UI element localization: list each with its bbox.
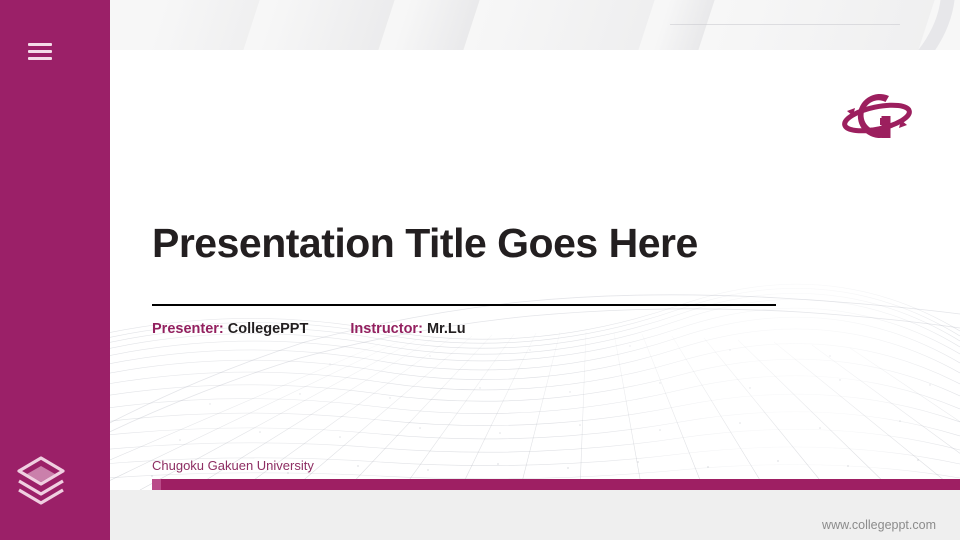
top-decorative-band <box>110 0 960 50</box>
slide-accent-bar-cap <box>152 479 161 490</box>
instructor-value: Mr.Lu <box>427 321 466 337</box>
ribbon-curve-shape <box>565 0 960 50</box>
byline: Presenter: CollegePPT Instructor: Mr.Lu <box>152 321 466 337</box>
site-url[interactable]: www.collegeppt.com <box>822 518 936 532</box>
instructor-label: Instructor: <box>350 321 423 337</box>
left-sidebar <box>0 0 110 540</box>
presenter-value: CollegePPT <box>228 321 309 337</box>
ribbon-shape <box>122 0 272 50</box>
presentation-viewer: Presentation Title Goes Here Presenter: … <box>0 0 960 540</box>
hamburger-bar <box>28 43 52 46</box>
ribbon-shape <box>232 0 407 50</box>
orbit-g-logo-icon <box>835 78 919 154</box>
presenter-label: Presenter: <box>152 321 224 337</box>
hamburger-bar <box>28 57 52 60</box>
hamburger-menu-icon[interactable] <box>28 43 52 63</box>
page-title: Presentation Title Goes Here <box>152 222 892 265</box>
university-name: Chugoku Gakuen University <box>152 458 314 473</box>
layers-stack-icon[interactable] <box>13 452 69 508</box>
slide-accent-bar <box>152 479 960 490</box>
ribbon-hairline <box>670 24 900 25</box>
hamburger-bar <box>28 50 52 53</box>
slide-canvas[interactable]: Presentation Title Goes Here Presenter: … <box>80 50 960 490</box>
title-divider <box>152 304 776 306</box>
